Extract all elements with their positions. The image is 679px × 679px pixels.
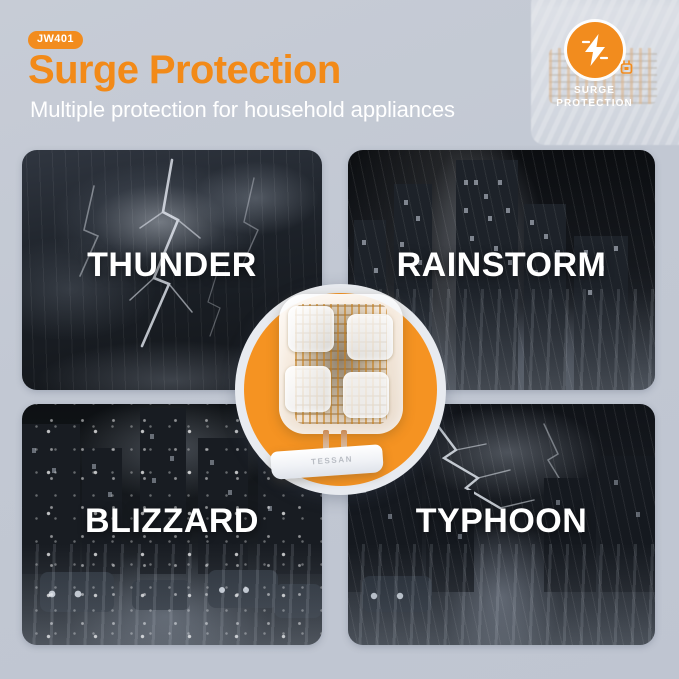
socket-outlet (343, 372, 389, 418)
surge-protection-seal: SURGE PROTECTION (532, 22, 657, 110)
tile-label-thunder: THUNDER (22, 246, 322, 285)
tile-label-blizzard: BLIZZARD (22, 502, 322, 541)
seal-label-line2: PROTECTION (532, 98, 657, 111)
product-image: TESSAN (271, 290, 411, 475)
page-subtitle: Multiple protection for household applia… (30, 97, 455, 123)
socket-outlet (285, 366, 331, 412)
seal-label-line1: SURGE (532, 85, 657, 98)
lightning-bolt-icon (580, 33, 610, 67)
seal-label: SURGE PROTECTION (532, 85, 657, 110)
tile-label-rainstorm: RAINSTORM (348, 246, 655, 285)
plug-icon (618, 59, 635, 76)
tile-label-typhoon: TYPHOON (348, 502, 655, 541)
flooded-street-overlay (348, 544, 655, 645)
product-body (279, 294, 403, 434)
socket-outlet (347, 314, 393, 360)
snowy-street-overlay (22, 544, 322, 645)
seal-circle (567, 22, 623, 78)
socket-outlet (288, 306, 334, 352)
center-product-highlight: TESSAN (235, 284, 446, 495)
product-infographic: JW401 Surge Protection Multiple protecti… (0, 0, 679, 679)
page-title: Surge Protection (28, 47, 341, 93)
